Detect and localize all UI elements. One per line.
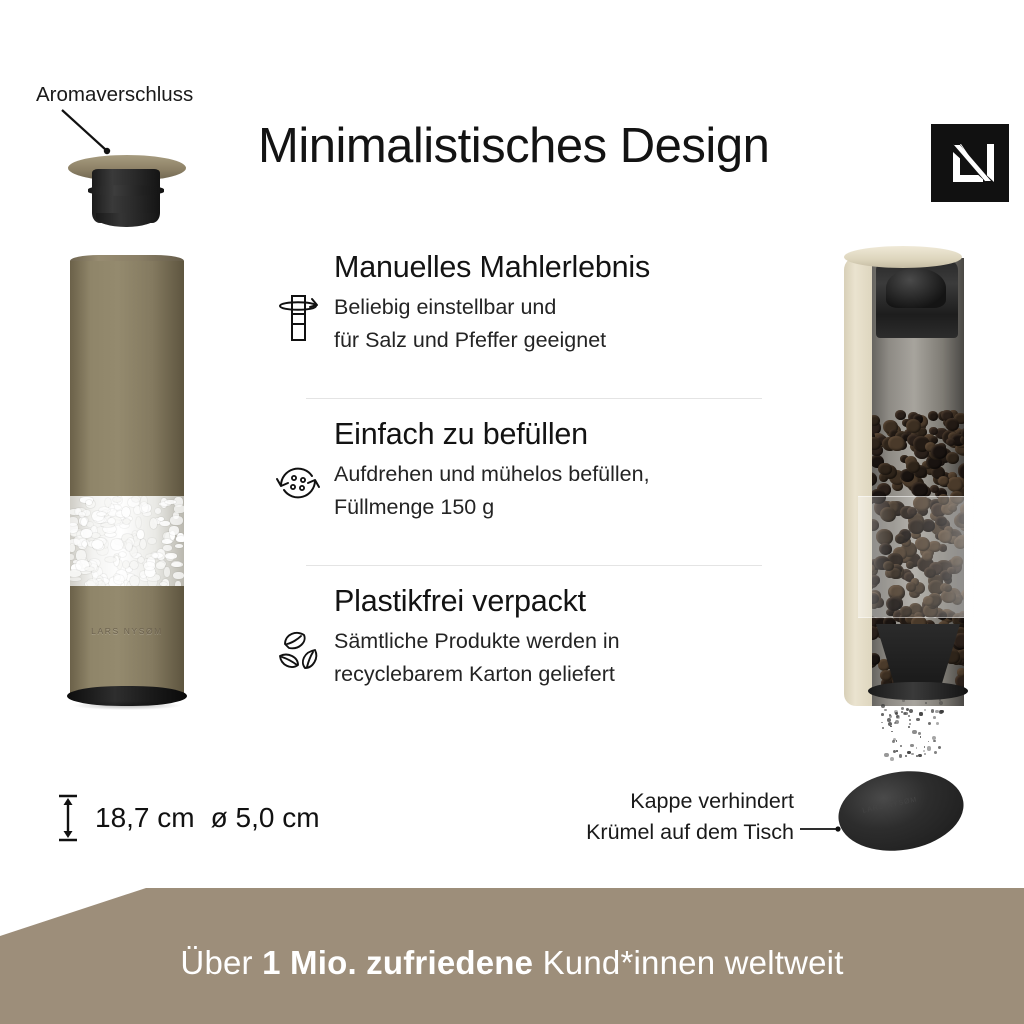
feature-title: Plastikfrei verpackt [334, 584, 762, 620]
banner-suffix: Kund*innen weltweit [533, 944, 843, 981]
feature-desc-line2: recyclebarem Karton geliefert [334, 659, 762, 690]
feature-text-block: Manuelles Mahlerlebnis Beliebig einstell… [334, 248, 762, 357]
infographic-canvas: Aromaverschluss LARS NYSØM Minimalistisc… [0, 0, 1024, 1024]
cap-top-face [833, 763, 970, 860]
mill-lid-bottom [96, 213, 156, 227]
banner-prefix: Über [180, 944, 262, 981]
product-cap: LARS NYSØM [838, 772, 964, 868]
feature-item-grinding: Manuelles Mahlerlebnis Beliebig einstell… [262, 248, 762, 380]
feature-text-block: Plastikfrei verpackt Sämtliche Produkte … [334, 582, 762, 691]
mill-body-lower [70, 586, 184, 694]
mill-salt-window [70, 496, 184, 586]
banner-text: Über 1 Mio. zufriedene Kund*innen weltwe… [180, 930, 843, 982]
dimensions-row: 18,7 cmø 5,0 cm [55, 792, 320, 844]
cutaway-cap [844, 246, 962, 268]
feature-icon-slot [262, 582, 334, 678]
banner-highlight: 1 Mio. zufriedene [262, 944, 533, 981]
cutaway-mechanism-core [886, 268, 946, 308]
feature-divider [306, 565, 762, 566]
recycle-leaves-icon [271, 624, 325, 678]
brand-logo [931, 124, 1009, 202]
feature-list: Manuelles Mahlerlebnis Beliebig einstell… [262, 248, 762, 714]
dimension-height: 18,7 cm [95, 802, 195, 833]
feature-desc-line1: Aufdrehen und mühelos befüllen, [334, 459, 762, 490]
callout-cap-line1: Kappe verhindert [548, 786, 794, 817]
mill-body-upper [70, 261, 184, 496]
grinder-rotate-icon [272, 290, 324, 346]
callout-cap-line2: Krümel auf dem Tisch [548, 817, 794, 848]
cutaway-base-plate [868, 682, 968, 700]
feature-icon-slot [262, 415, 334, 509]
cutaway-glass-window [858, 496, 974, 618]
product-pepper-mill-cutaway [828, 246, 1008, 766]
mill-brand-engraving: LARS NYSØM [70, 626, 184, 636]
refill-rotate-icon [272, 457, 324, 509]
feature-desc-line1: Beliebig einstellbar und [334, 292, 762, 323]
page-title: Minimalistisches Design [258, 118, 769, 174]
dimensions-text: 18,7 cmø 5,0 cm [95, 802, 320, 834]
feature-title: Einfach zu befüllen [334, 417, 762, 453]
dimension-diameter: ø 5,0 cm [211, 802, 320, 833]
feature-item-packaging: Plastikfrei verpackt Sämtliche Produkte … [262, 582, 762, 714]
feature-desc-line1: Sämtliche Produkte werden in [334, 626, 762, 657]
feature-title: Manuelles Mahlerlebnis [334, 250, 762, 286]
feature-text-block: Einfach zu befüllen Aufdrehen und mühelo… [334, 415, 762, 524]
product-salt-mill: LARS NYSØM [62, 145, 222, 720]
cutaway-outer-shell [844, 256, 872, 706]
bottom-banner: Über 1 Mio. zufriedene Kund*innen weltwe… [0, 888, 1024, 1024]
feature-desc-line2: für Salz und Pfeffer geeignet [334, 325, 762, 356]
callout-aromaverschluss: Aromaverschluss [36, 83, 193, 107]
callout-cap-text: Kappe verhindert Krümel auf dem Tisch [548, 786, 794, 847]
feature-item-refill: Einfach zu befüllen Aufdrehen und mühelo… [262, 415, 762, 547]
mill-lid-ring [88, 185, 164, 196]
mill-base-shadow [72, 701, 182, 710]
height-arrow-icon [55, 792, 81, 844]
feature-divider [306, 398, 762, 399]
callout-leader-line-cap [800, 826, 842, 832]
feature-icon-slot [262, 248, 334, 346]
logo-n-icon [931, 124, 1009, 202]
feature-desc-line2: Füllmenge 150 g [334, 492, 762, 523]
